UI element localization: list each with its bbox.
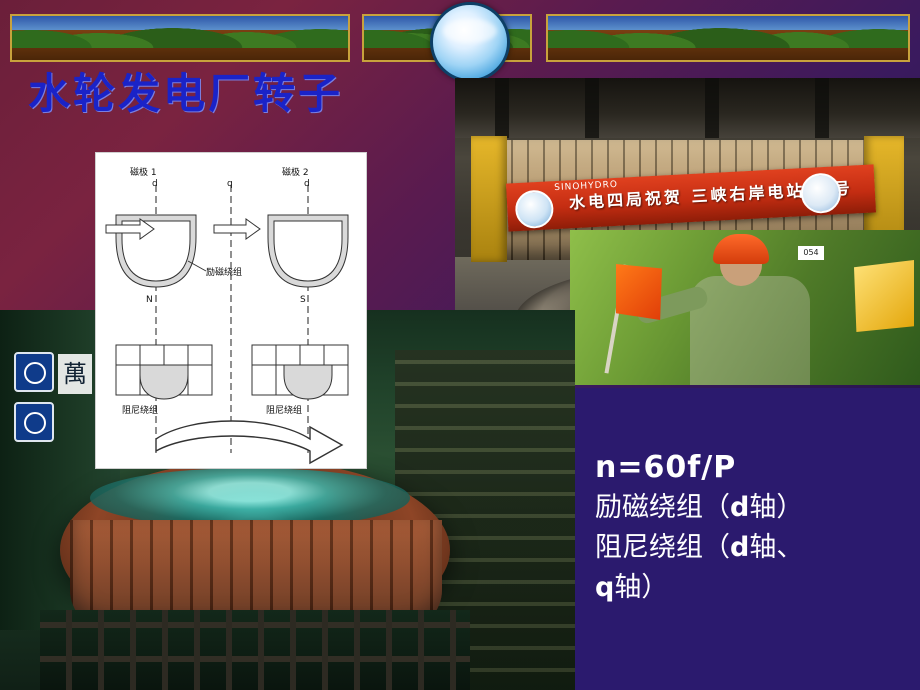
ceiling-beam — [495, 78, 509, 138]
diagram-label-d-axis-left: d — [152, 179, 158, 189]
scaffolding — [40, 610, 470, 690]
banner-hills — [10, 26, 350, 48]
banner-landscape-left — [10, 14, 350, 62]
diagram-label-s-pole: S — [300, 295, 306, 305]
diagram-label-field-winding: 励磁绕组 — [206, 265, 242, 278]
wall-sign-icon — [14, 352, 54, 392]
yellow-bracket-left — [471, 136, 507, 262]
globe-icon — [430, 2, 510, 82]
formula-line-2: 励磁绕组（d轴） — [595, 488, 803, 528]
wall-sign-icon — [14, 402, 54, 442]
formula-line-2-axis: d — [730, 492, 749, 523]
slide-canvas: 水轮发电厂转子 SINOHYDRO 水电四局祝贺 三峡右岸电站12号 0 — [0, 0, 920, 690]
red-flag — [616, 264, 662, 320]
banner-hills — [546, 26, 910, 48]
formula-line-2-prefix: 励磁绕组（ — [595, 492, 730, 523]
wall-character: 萬 — [58, 354, 92, 394]
formula-text: n=60f/P 励磁绕组（d轴） 阻尼绕组（d轴、 q轴） — [595, 448, 803, 608]
diagram-label-pole1: 磁极 1 — [130, 165, 157, 178]
diagram-label-damper-right: 阻尼绕组 — [266, 403, 302, 416]
diagram-label-n-pole: N — [146, 295, 153, 305]
formula-line-3: 阻尼绕组（d轴、 — [595, 528, 803, 568]
yellow-flag — [854, 260, 914, 332]
diagram-label-pole2: 磁极 2 — [282, 165, 309, 178]
diagram-label-damper-left: 阻尼绕组 — [122, 403, 158, 416]
formula-line-1: n=60f/P — [595, 448, 803, 488]
rotor-top-ring — [90, 468, 410, 528]
rotor-pole-winding-diagram: 磁极 1 磁极 2 d q d 励磁绕组 N S 阻尼绕组 阻尼绕组 — [95, 152, 367, 469]
photo-ceiling — [455, 78, 920, 138]
banner-landscape-right — [546, 14, 910, 62]
formula-line-3-axis: d — [730, 532, 749, 563]
ceiling-beam — [815, 78, 829, 138]
ceiling-beam — [585, 78, 599, 138]
formula-line-4: q轴） — [595, 568, 803, 608]
worker-body — [690, 276, 810, 385]
formula-line-4-suffix: 轴） — [614, 572, 668, 603]
formula-line-4-axis: q — [595, 572, 614, 603]
helmet-badge: 054 — [798, 246, 824, 260]
diagram-label-d-axis-right: d — [304, 179, 310, 189]
diagram-svg — [96, 153, 366, 468]
formula-line-2-suffix: 轴） — [749, 492, 803, 523]
formula-panel: n=60f/P 励磁绕组（d轴） 阻尼绕组（d轴、 q轴） — [575, 388, 920, 690]
page-title: 水轮发电厂转子 — [28, 60, 343, 121]
ceiling-beam — [705, 78, 719, 138]
diagram-label-q-axis: q — [227, 179, 233, 189]
formula-line-3-prefix: 阻尼绕组（ — [595, 532, 730, 563]
sinohydro-logo-icon — [514, 189, 554, 229]
worker-with-flag-photo: 054 — [570, 230, 920, 385]
formula-line-3-suffix: 轴、 — [749, 532, 803, 563]
